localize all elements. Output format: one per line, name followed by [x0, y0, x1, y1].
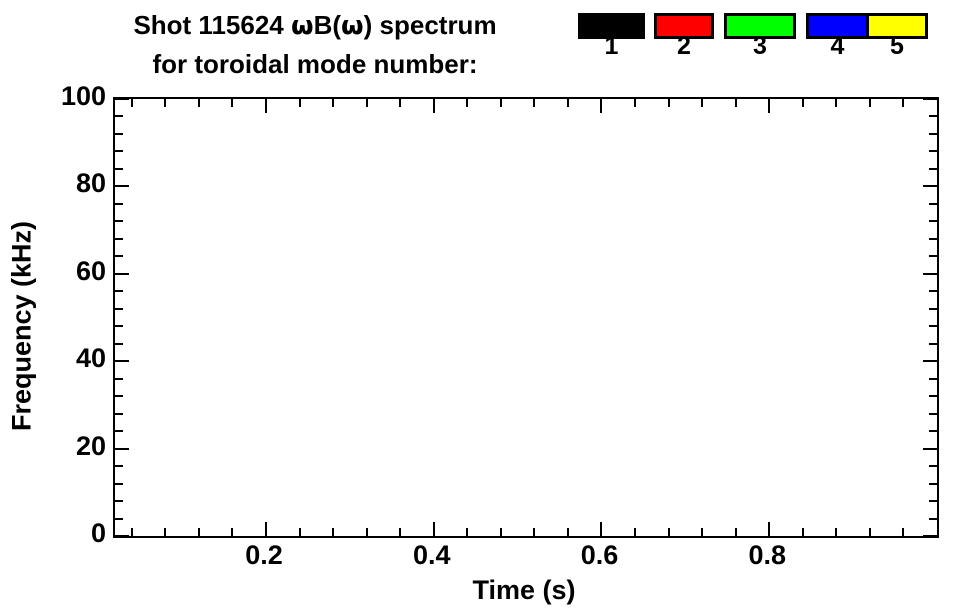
axis-tick	[131, 99, 133, 107]
axis-tick	[929, 483, 937, 485]
axis-tick	[115, 535, 129, 537]
axis-tick	[533, 528, 535, 536]
axis-tick	[567, 528, 569, 536]
axis-tick	[198, 528, 200, 536]
axis-tick	[768, 522, 770, 536]
axis-tick	[929, 308, 937, 310]
omega-symbol-1: ω	[291, 11, 314, 41]
x-tick-label-0.2: 0.2	[224, 542, 304, 569]
figure-canvas: Shot 115624 ωB(ω) spectrum for toroidal …	[0, 0, 963, 615]
axis-tick	[701, 528, 703, 536]
axis-tick	[115, 133, 123, 135]
axis-tick	[115, 500, 123, 502]
axis-tick	[115, 168, 123, 170]
axis-tick	[115, 115, 123, 117]
axis-tick	[533, 99, 535, 107]
y-tick-label-20: 20	[76, 433, 106, 460]
axis-tick	[735, 528, 737, 536]
x-tick-label-0.6: 0.6	[559, 542, 639, 569]
axis-tick	[902, 99, 904, 107]
axis-tick	[600, 99, 602, 113]
axis-tick	[929, 395, 937, 397]
axis-tick	[265, 99, 267, 113]
axis-tick	[929, 220, 937, 222]
axis-tick	[668, 528, 670, 536]
axis-tick	[115, 220, 123, 222]
axis-tick	[115, 290, 123, 292]
axis-tick	[115, 150, 123, 152]
legend-entry-2[interactable]: 2	[654, 13, 714, 39]
axis-tick	[802, 99, 804, 107]
axis-tick	[115, 325, 123, 327]
axis-tick	[929, 255, 937, 257]
legend-entry-1[interactable]: 1	[578, 13, 645, 39]
omega-symbol-2: ω	[341, 11, 364, 41]
axis-tick	[265, 522, 267, 536]
axis-tick	[433, 522, 435, 536]
plot-title: Shot 115624 ωB(ω) spectrum for toroidal …	[60, 6, 570, 83]
axis-tick	[929, 500, 937, 502]
axis-tick	[399, 99, 401, 107]
axis-tick	[299, 99, 301, 107]
axis-tick	[131, 528, 133, 536]
plot-title-line-2: for toroidal mode number:	[60, 45, 570, 83]
axis-tick	[115, 308, 123, 310]
axis-tick	[929, 343, 937, 345]
axis-tick	[929, 465, 937, 467]
axis-tick	[466, 528, 468, 536]
axis-tick	[929, 168, 937, 170]
axis-tick	[115, 378, 123, 380]
axis-tick	[115, 360, 129, 362]
axis-tick	[115, 448, 129, 450]
plot-title-line-1: Shot 115624 ωB(ω) spectrum	[60, 6, 570, 45]
axis-tick	[923, 185, 937, 187]
y-tick-label-60: 60	[76, 258, 106, 285]
axis-tick	[115, 413, 123, 415]
axis-tick	[929, 133, 937, 135]
y-axis-title: Frequency (kHz)	[7, 221, 38, 431]
legend-label-1: 1	[578, 32, 645, 60]
axis-tick	[500, 528, 502, 536]
axis-tick	[929, 238, 937, 240]
axis-tick	[835, 528, 837, 536]
legend-entry-4[interactable]: 4	[806, 13, 869, 39]
legend-label-3: 3	[724, 32, 796, 60]
y-tick-label-40: 40	[76, 345, 106, 372]
axis-tick	[299, 528, 301, 536]
axis-tick	[115, 395, 123, 397]
axis-tick	[433, 99, 435, 113]
axis-tick	[115, 185, 129, 187]
axis-tick	[929, 203, 937, 205]
axis-tick	[115, 430, 123, 432]
axis-tick	[198, 99, 200, 107]
y-tick-label-80: 80	[76, 170, 106, 197]
axis-tick	[115, 483, 123, 485]
axis-tick	[115, 203, 123, 205]
axis-tick	[923, 448, 937, 450]
axis-tick	[902, 528, 904, 536]
x-tick-label-0.8: 0.8	[727, 542, 807, 569]
x-axis-title: Time (s)	[113, 575, 935, 606]
axis-tick	[600, 522, 602, 536]
axis-tick	[366, 99, 368, 107]
axis-tick	[332, 528, 334, 536]
axis-tick	[164, 528, 166, 536]
axis-tick	[115, 343, 123, 345]
axis-tick	[835, 99, 837, 107]
legend-label-4: 4	[806, 32, 869, 60]
axis-tick	[923, 98, 937, 100]
axis-tick	[869, 528, 871, 536]
axis-tick	[115, 518, 123, 520]
axis-tick	[634, 99, 636, 107]
axis-tick	[929, 115, 937, 117]
axis-tick	[802, 528, 804, 536]
axis-tick	[929, 378, 937, 380]
axis-tick	[768, 99, 770, 113]
axis-tick	[929, 518, 937, 520]
axis-tick	[929, 325, 937, 327]
axis-tick	[923, 273, 937, 275]
axis-tick	[115, 238, 123, 240]
axis-tick	[929, 150, 937, 152]
axis-tick	[701, 99, 703, 107]
axis-tick	[115, 255, 123, 257]
axis-tick	[115, 465, 123, 467]
axis-tick	[231, 528, 233, 536]
legend-entry-3[interactable]: 3	[724, 13, 796, 39]
axis-tick	[929, 290, 937, 292]
axis-tick	[923, 360, 937, 362]
axis-tick	[929, 430, 937, 432]
legend-label-5: 5	[866, 32, 928, 60]
axis-tick	[115, 273, 129, 275]
axis-tick	[332, 99, 334, 107]
axis-tick	[668, 99, 670, 107]
axis-tick	[735, 99, 737, 107]
axis-tick	[115, 98, 129, 100]
axis-tick	[466, 99, 468, 107]
axis-tick	[164, 99, 166, 107]
axis-tick	[399, 528, 401, 536]
axis-tick	[567, 99, 569, 107]
y-tick-label-100: 100	[61, 83, 106, 110]
axis-tick	[231, 99, 233, 107]
x-tick-label-0.4: 0.4	[392, 542, 472, 569]
legend: 12345	[578, 13, 958, 69]
axis-tick	[869, 99, 871, 107]
axis-tick	[634, 528, 636, 536]
axis-tick	[923, 535, 937, 537]
axis-tick	[500, 99, 502, 107]
y-tick-label-0: 0	[91, 520, 106, 547]
legend-entry-5[interactable]: 5	[866, 13, 928, 39]
axis-tick	[366, 528, 368, 536]
plot-area	[113, 97, 939, 538]
legend-label-2: 2	[654, 32, 714, 60]
axis-tick	[929, 413, 937, 415]
